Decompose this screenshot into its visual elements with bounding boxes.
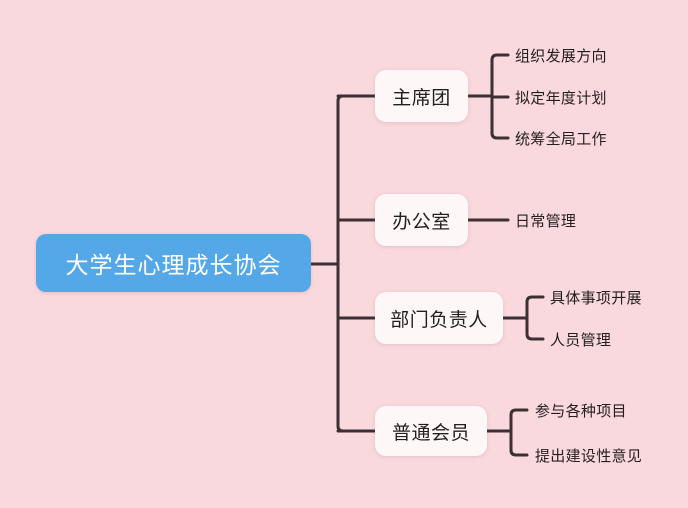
leaf-node-specific-tasks[interactable]: 具体事项开展 [550, 282, 642, 312]
connector-trunk [338, 96, 348, 431]
leaf-node-annual-plan[interactable]: 拟定年度计划 [515, 82, 607, 112]
connector-leafbracket-4 [511, 410, 527, 455]
leaf-node-label: 拟定年度计划 [515, 87, 607, 108]
leaf-node-label: 日常管理 [515, 210, 576, 231]
root-node-label: 大学生心理成长协会 [66, 246, 282, 280]
leaf-node-label: 组织发展方向 [515, 45, 607, 66]
branch-node-label: 普通会员 [392, 418, 470, 445]
branch-node-label: 部门负责人 [390, 305, 488, 332]
branch-node-ordinary-member[interactable]: 普通会员 [375, 406, 487, 456]
leaf-node-constructive-suggestions[interactable]: 提出建设性意见 [535, 440, 642, 470]
leaf-node-overall-work[interactable]: 统筹全局工作 [515, 123, 607, 153]
connector-leafbracket-3 [527, 297, 543, 339]
leaf-node-label: 提出建设性意见 [535, 445, 642, 466]
connector-leafbracket-1 [492, 55, 508, 138]
leaf-node-daily-management[interactable]: 日常管理 [515, 205, 576, 235]
mindmap-canvas: 大学生心理成长协会 主席团 组织发展方向 拟定年度计划 统筹全局工作 办公室 日… [0, 0, 688, 508]
branch-node-office[interactable]: 办公室 [375, 194, 468, 246]
branch-node-department-head[interactable]: 部门负责人 [375, 292, 503, 344]
branch-node-label: 主席团 [392, 83, 451, 110]
leaf-node-personnel-management[interactable]: 人员管理 [550, 324, 611, 354]
root-node[interactable]: 大学生心理成长协会 [36, 234, 311, 292]
leaf-node-join-projects[interactable]: 参与各种项目 [535, 395, 627, 425]
leaf-node-label: 具体事项开展 [550, 287, 642, 308]
leaf-node-label: 人员管理 [550, 329, 611, 350]
leaf-node-label: 统筹全局工作 [515, 128, 607, 149]
leaf-node-org-direction[interactable]: 组织发展方向 [515, 40, 607, 70]
branch-node-presidium[interactable]: 主席团 [375, 70, 468, 122]
leaf-node-label: 参与各种项目 [535, 400, 627, 421]
branch-node-label: 办公室 [392, 207, 451, 234]
